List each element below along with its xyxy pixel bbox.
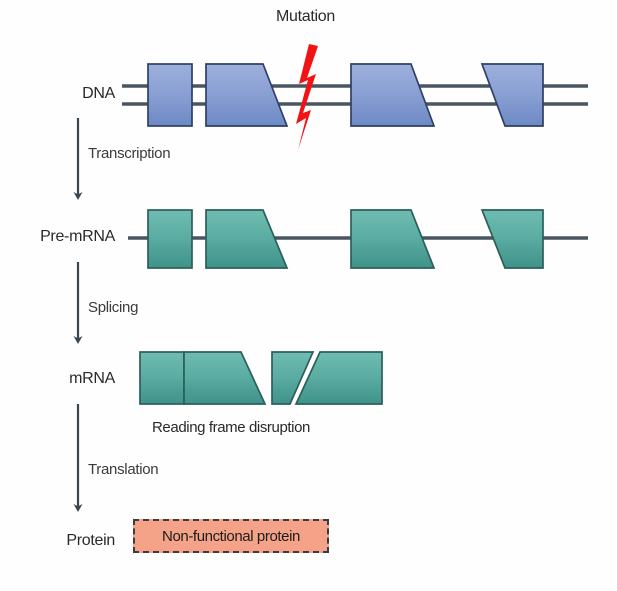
pre-mrna-exon-3 xyxy=(351,210,434,268)
dna-exon-4 xyxy=(482,64,543,126)
row-label-pre-mrna: Pre-mRNA xyxy=(10,228,115,246)
mutation-lightning-bolt-icon xyxy=(296,44,318,150)
pre-mrna-exon-1 xyxy=(148,210,192,268)
figure-canvas: DNA Pre-mRNA mRNA Protein Transcription … xyxy=(0,0,617,591)
dna-exon-3 xyxy=(351,64,434,126)
step-label-translation: Translation xyxy=(88,461,158,478)
mrna-exon-2 xyxy=(184,352,265,404)
row-label-protein: Protein xyxy=(15,532,115,550)
dna-exon-1 xyxy=(148,64,192,126)
non-functional-protein-label: Non-functional protein xyxy=(162,528,300,545)
mrna-exon-1 xyxy=(140,352,184,404)
row-label-dna: DNA xyxy=(20,85,115,103)
mutation-label: Mutation xyxy=(276,8,335,26)
step-label-transcription: Transcription xyxy=(88,145,170,162)
reading-frame-disruption-label: Reading frame disruption xyxy=(152,419,310,436)
row-label-mrna: mRNA xyxy=(20,370,115,388)
dna-exon-2 xyxy=(206,64,287,126)
step-label-splicing: Splicing xyxy=(88,299,138,316)
non-functional-protein-box: Non-functional protein xyxy=(133,519,329,553)
pre-mrna-exon-2 xyxy=(206,210,287,268)
